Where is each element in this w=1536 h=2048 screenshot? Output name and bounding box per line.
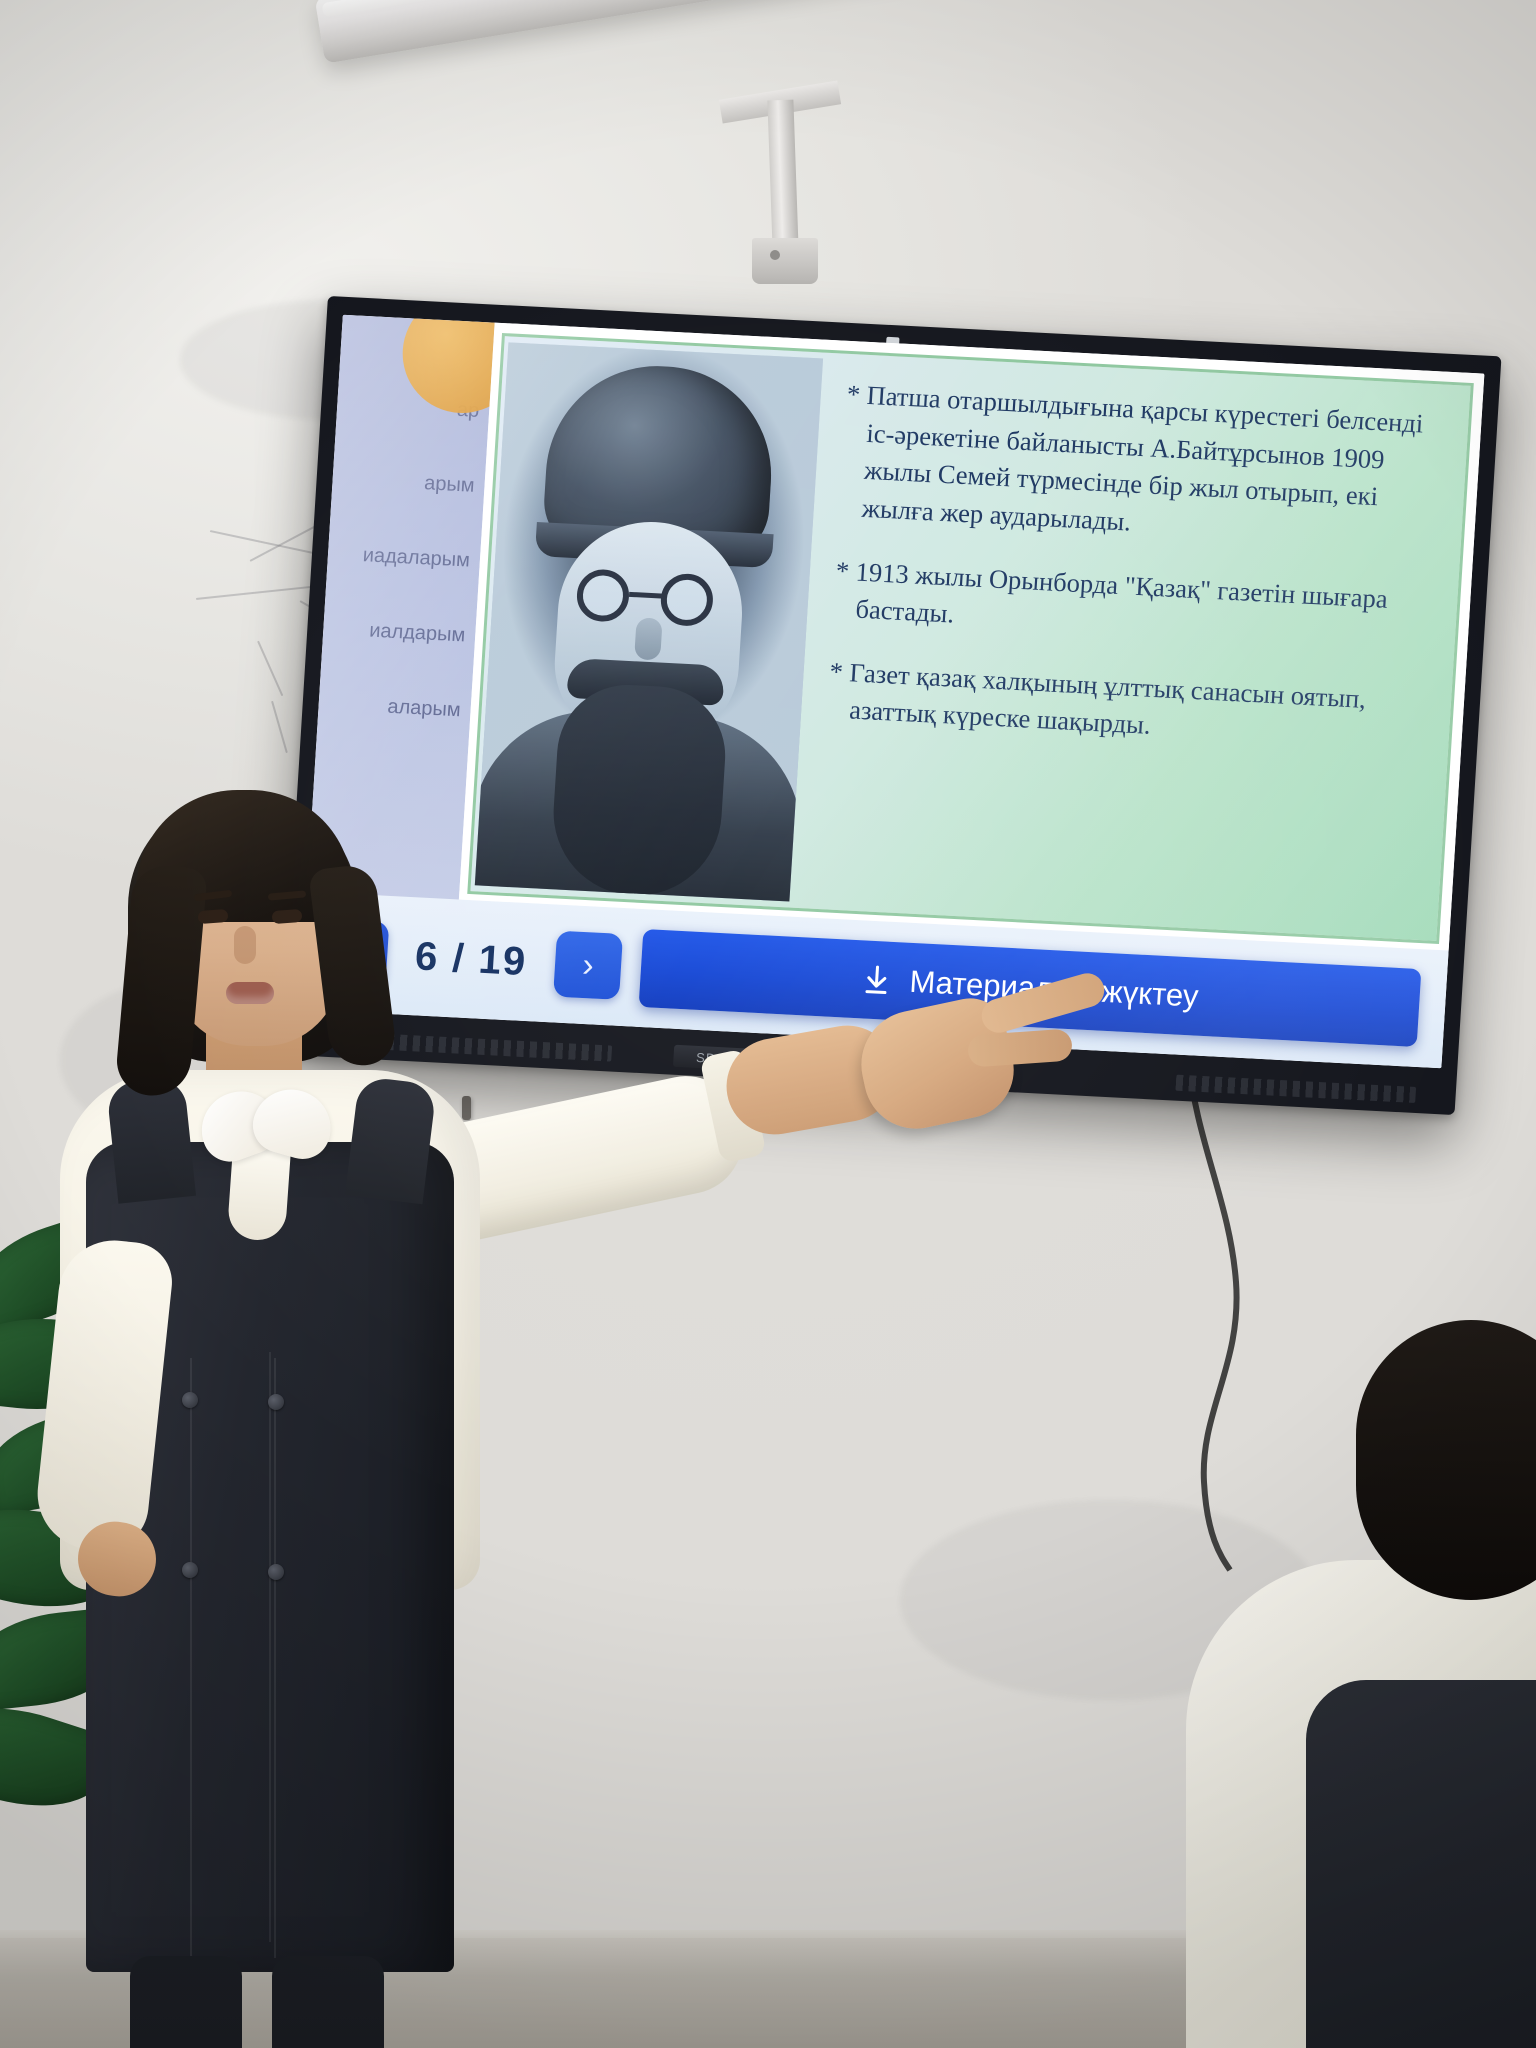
slide-viewer[interactable]: * Патша отаршылдығына қарсы күрестегі бе… [459, 323, 1485, 951]
sidebar-item-1[interactable]: арым [330, 442, 486, 525]
slide-bullet-2: * Газет қазақ халқының ұлттық санасын оя… [826, 653, 1436, 759]
bullet-marker-icon: * [835, 555, 850, 586]
slide-bullet-text: Газет қазақ халқының ұлттық санасын ояты… [848, 657, 1366, 740]
mouth [226, 982, 274, 1004]
nose [234, 926, 256, 964]
bullet-marker-icon: * [846, 379, 861, 410]
eye [272, 909, 303, 924]
slide: * Патша отаршылдығына қарсы күрестегі бе… [467, 333, 1474, 944]
sidebar-item-3[interactable]: иалдарым [321, 591, 477, 674]
leg [272, 1956, 384, 2048]
slide-bullet-0: * Патша отаршылдығына қарсы күрестегі бе… [839, 376, 1454, 557]
sidebar-item-4[interactable]: аларым [316, 666, 472, 749]
eye [198, 909, 229, 924]
slide-bullet-text: 1913 жылы Орынборда "Қазақ" газетін шыға… [855, 556, 1389, 629]
neck-bow [206, 1088, 326, 1238]
slide-bullet-1: * 1913 жылы Орынборда "Қазақ" газетін шы… [832, 552, 1442, 658]
teacher-person [20, 770, 580, 2010]
bullet-marker-icon: * [829, 656, 844, 687]
classroom-scene: SDCMOXS ар арым иадаларым иалдарым алары… [0, 0, 1536, 2048]
leg [130, 1956, 242, 2048]
speaker-grille [1175, 1075, 1416, 1103]
slide-bullet-text: Патша отаршылдығына қарсы күрестегі белс… [861, 380, 1424, 537]
sidebar-item-2[interactable]: иадаларым [326, 516, 482, 599]
slide-text-content: * Патша отаршылдығына қарсы күрестегі бе… [789, 353, 1471, 941]
student-person [1156, 1380, 1536, 2048]
download-arrow-icon [861, 963, 893, 996]
student-vest [1306, 1680, 1536, 2048]
student-head [1356, 1320, 1536, 1600]
ceiling-light-fixture [300, 0, 1536, 310]
